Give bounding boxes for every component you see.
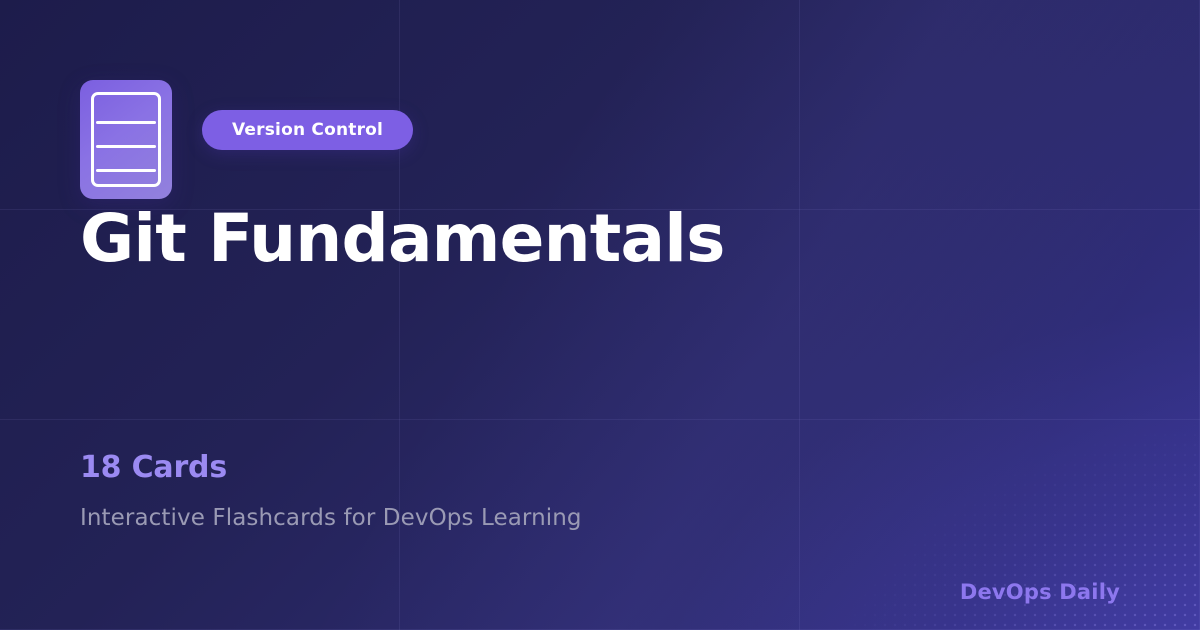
tagline-text: Interactive Flashcards for DevOps Learni… [80, 505, 582, 531]
icon-line-2 [96, 145, 156, 148]
category-badge: Version Control [202, 110, 413, 150]
icon-text-lines [96, 121, 156, 172]
brand-name: DevOps Daily [960, 580, 1120, 604]
header-row: Version Control [80, 80, 413, 199]
card-content: Version Control Git Fundamentals 18 Card… [0, 0, 1200, 630]
og-share-card: Version Control Git Fundamentals 18 Card… [0, 0, 1200, 630]
page-title: Git Fundamentals [80, 203, 725, 274]
card-count-label: 18 Cards [80, 450, 227, 485]
flashcard-stack-icon [80, 80, 172, 199]
icon-line-1 [96, 121, 156, 124]
icon-line-3 [96, 169, 156, 172]
